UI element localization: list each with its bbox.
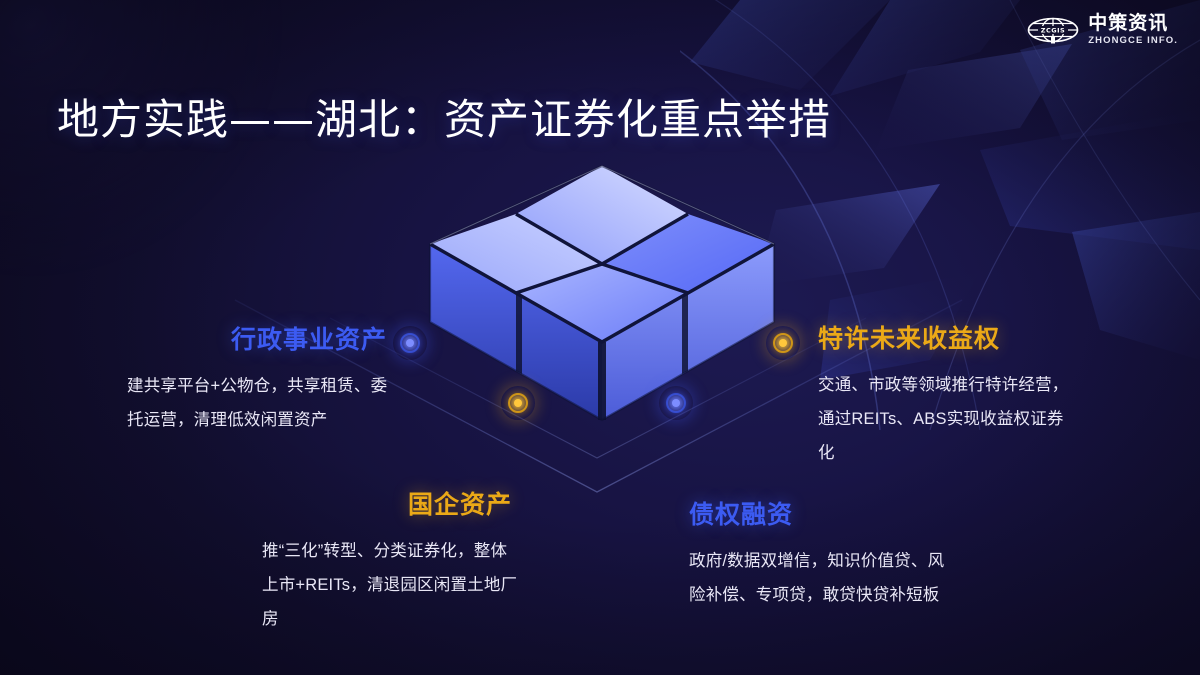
brand-logo: ZCGIS 中策资讯 ZHONGCE INFO. [1027,14,1178,46]
presentation-slide: ZCGIS 中策资讯 ZHONGCE INFO. 地方实践——湖北：资产证券化重… [0,0,1200,675]
node-dot-admin[interactable] [393,326,427,360]
isometric-cube-graphic [392,140,812,430]
content-block-debt: 债权融资 政府/数据双增信，知识价值贷、风险补偿、专项贷，敢贷快贷补短板 [689,502,951,613]
content-block-soe: 国企资产 推“三化”转型、分类证券化，整体上市+REITs，清退园区闲置土地厂房 [262,492,518,636]
node-core [514,399,522,407]
content-block-admin: 行政事业资产 建共享平台+公物仓，共享租赁、委托运营，清理低效闲置资产 [127,327,395,438]
logo-name-cn: 中策资讯 [1088,14,1178,33]
logo-name-en: ZHONGCE INFO. [1088,36,1178,46]
globe-emblem-icon: ZCGIS [1027,15,1079,45]
node-core [779,339,787,347]
block-body-soe: 推“三化”转型、分类证券化，整体上市+REITs，清退园区闲置土地厂房 [262,535,518,636]
block-heading-debt: 债权融资 [689,502,951,527]
node-dot-future[interactable] [766,326,800,360]
cube-svg [392,140,812,430]
svg-text:ZCGIS: ZCGIS [1041,26,1065,34]
node-core [406,339,414,347]
node-dot-debt[interactable] [659,386,693,420]
block-heading-admin: 行政事业资产 [127,327,395,352]
content-block-future: 特许未来收益权 交通、市政等领域推行特许经营，通过REITs、ABS实现收益权证… [818,326,1080,470]
node-dot-soe[interactable] [501,386,535,420]
block-body-debt: 政府/数据双增信，知识价值贷、风险补偿、专项贷，敢贷快贷补短板 [689,545,951,613]
block-heading-future: 特许未来收益权 [818,326,1080,351]
block-body-future: 交通、市政等领域推行特许经营，通过REITs、ABS实现收益权证券化 [818,369,1080,470]
node-core [672,399,680,407]
background-left-glow [0,0,300,300]
slide-title: 地方实践——湖北：资产证券化重点举措 [57,86,831,147]
block-heading-soe: 国企资产 [262,492,518,517]
block-body-admin: 建共享平台+公物仓，共享租赁、委托运营，清理低效闲置资产 [127,370,395,438]
